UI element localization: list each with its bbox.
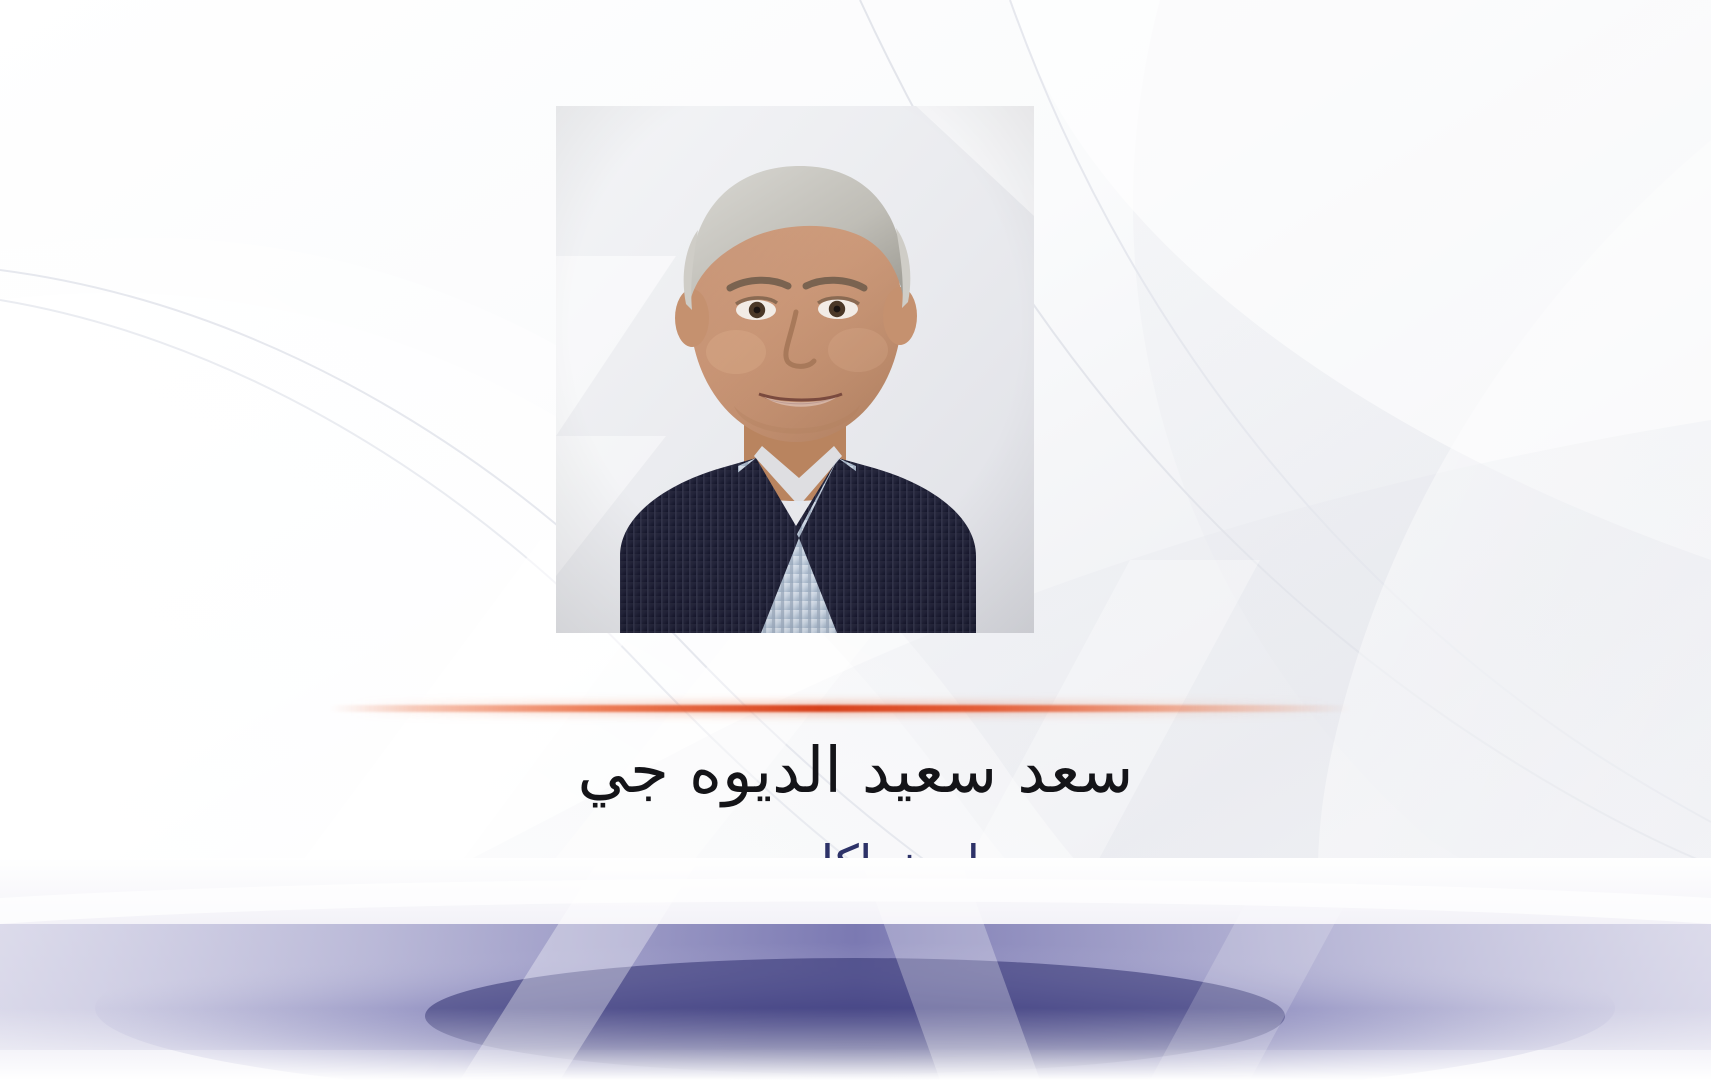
news-agency-portrait-card: سعد سعيد الديوه جي باحث اكاديمي [0,0,1711,1080]
footer-band: Iragyoon News Agency وكالة أنباء عراقيون… [0,858,1711,1080]
footer-band-gradient [0,858,1711,1080]
orange-accent-divider [330,700,1350,717]
portrait-photo [556,106,1034,633]
person-name: سعد سعيد الديوه جي [0,738,1711,804]
divider-bar [330,705,1350,712]
